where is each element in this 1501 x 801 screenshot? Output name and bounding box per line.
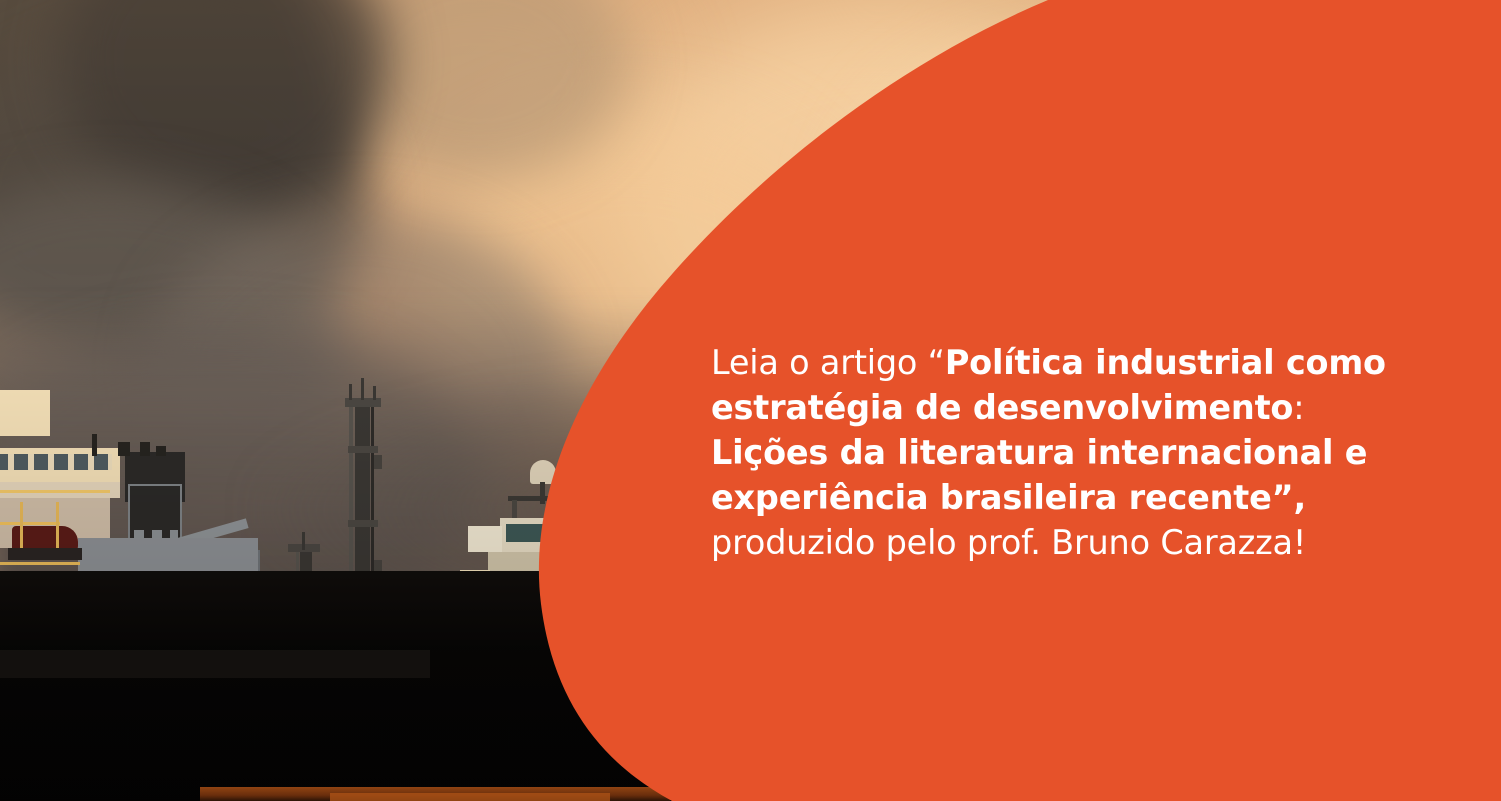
callout-regular-segment: : [1293,388,1304,427]
callout-line-3: Lições da literatura internacional e [711,430,1451,475]
hull-deck-edge [0,650,430,678]
callout-bold-segment: experiência brasileira recente”, [711,478,1306,517]
callout-text: Leia o artigo “Política industrial como … [711,340,1451,565]
ship-hull [0,571,1501,801]
callout-bold-segment: Política industrial como [945,343,1386,382]
callout-bold-segment: Lições da literatura internacional e [711,433,1367,472]
callout-line-1: Leia o artigo “Política industrial como [711,340,1451,385]
callout-regular-segment: produzido pelo prof. Bruno Carazza! [711,523,1306,562]
callout-bold-segment: estratégia de desenvolvimento [711,388,1293,427]
waterline-highlight [330,793,610,801]
callout-regular-segment: Leia o artigo “ [711,343,945,382]
promo-banner: Leia o artigo “Política industrial como … [0,0,1501,801]
callout-line-2: estratégia de desenvolvimento: [711,385,1451,430]
callout-line-5: produzido pelo prof. Bruno Carazza! [711,520,1451,565]
callout-line-4: experiência brasileira recente”, [711,475,1451,520]
